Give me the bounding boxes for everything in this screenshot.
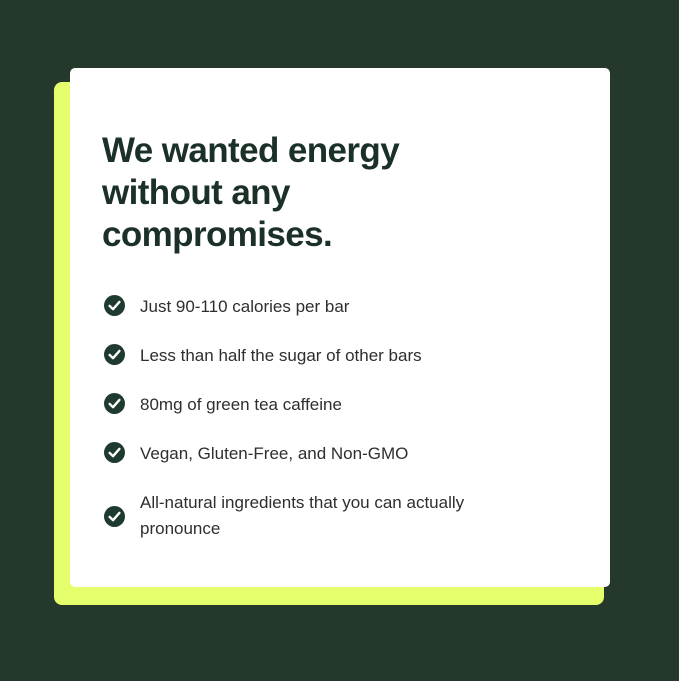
headline-line-1: We wanted energy xyxy=(102,130,570,172)
benefits-list: Just 90-110 calories per bar Less than h… xyxy=(102,294,570,542)
promo-card-stack: We wanted energy without any compromises… xyxy=(54,68,610,605)
benefit-label: Just 90-110 calories per bar xyxy=(140,294,349,320)
list-item: Vegan, Gluten-Free, and Non-GMO xyxy=(104,441,570,467)
list-item: Just 90-110 calories per bar xyxy=(104,294,570,320)
benefit-label: Vegan, Gluten-Free, and Non-GMO xyxy=(140,441,408,467)
benefit-label: 80mg of green tea caffeine xyxy=(140,392,342,418)
list-item: Less than half the sugar of other bars xyxy=(104,343,570,369)
list-item: All-natural ingredients that you can act… xyxy=(104,490,570,542)
headline-line-3: compromises. xyxy=(102,214,570,256)
benefit-label: All-natural ingredients that you can act… xyxy=(140,490,540,542)
check-circle-icon xyxy=(104,344,125,365)
promo-card: We wanted energy without any compromises… xyxy=(70,68,610,587)
headline-line-2: without any xyxy=(102,172,570,214)
check-circle-icon xyxy=(104,295,125,316)
list-item: 80mg of green tea caffeine xyxy=(104,392,570,418)
page-title: We wanted energy without any compromises… xyxy=(102,130,570,256)
check-circle-icon xyxy=(104,506,125,527)
check-circle-icon xyxy=(104,393,125,414)
benefit-label: Less than half the sugar of other bars xyxy=(140,343,422,369)
check-circle-icon xyxy=(104,442,125,463)
